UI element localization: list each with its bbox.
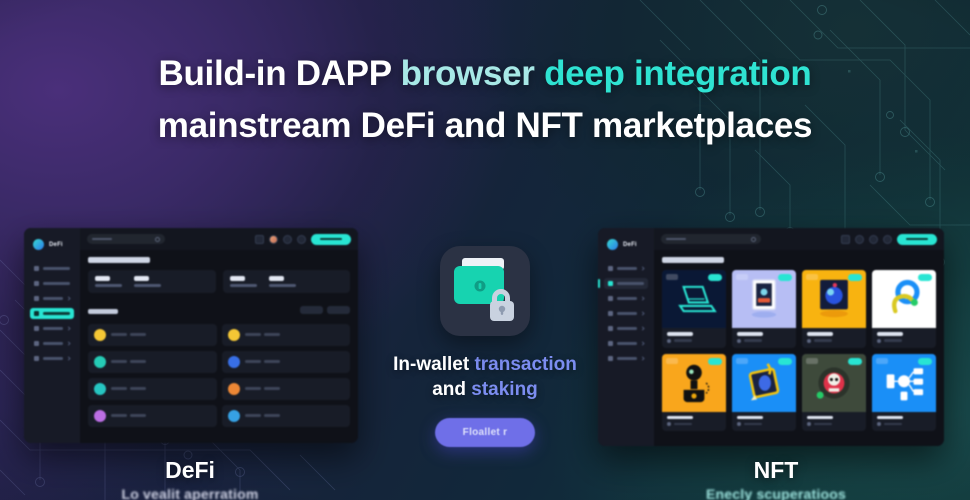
nft-card-tag — [736, 274, 748, 280]
staking-card[interactable] — [222, 351, 351, 373]
nft-search-input[interactable] — [661, 234, 761, 244]
defi-app-screenshot: DeFi — [24, 228, 358, 443]
frame-art — [732, 270, 796, 328]
nft-card-tag — [806, 274, 818, 280]
sidebar-item-settings[interactable] — [30, 353, 74, 364]
nft-sidebar: DeFi — [598, 228, 654, 446]
staking-card[interactable] — [88, 378, 217, 400]
sidebar-item-my-assets[interactable] — [30, 338, 74, 349]
nft-card-price — [877, 339, 931, 343]
stat-panel — [223, 270, 351, 293]
nft-card[interactable] — [802, 354, 866, 432]
nft-card[interactable] — [662, 270, 726, 348]
headline-seg-buildin: Build-in DAPP — [158, 54, 400, 93]
orb-art — [802, 270, 866, 328]
chevron-right-icon — [66, 356, 70, 360]
avatar[interactable] — [883, 235, 892, 244]
avatar[interactable] — [269, 235, 278, 244]
chevron-right-icon — [640, 341, 644, 345]
defi-connect-button[interactable] — [311, 234, 351, 245]
coin-icon — [94, 410, 106, 422]
nft-card[interactable] — [662, 354, 726, 432]
nft-card-name — [737, 416, 763, 420]
slide-canvas: Build-in DAPP browser deep integration m… — [0, 0, 970, 500]
nft-card-price — [737, 422, 791, 426]
sidebar-item-staking[interactable] — [30, 308, 74, 319]
wallet-icon — [34, 296, 39, 301]
caption-defi: DeFi Lo vealit aperratiom — [90, 458, 290, 500]
nft-card-grid — [662, 270, 936, 431]
defi-main-body — [80, 250, 358, 443]
chevron-right-icon — [640, 356, 644, 360]
sidebar-item-markets[interactable] — [30, 323, 74, 334]
nft-card-badge — [708, 274, 722, 281]
nft-card[interactable] — [802, 270, 866, 348]
caption-nft-title: NFT — [676, 458, 876, 482]
nft-card-name — [667, 416, 693, 420]
nft-topbar — [654, 228, 944, 250]
nft-card-name — [877, 332, 903, 336]
chart-icon — [34, 326, 39, 331]
nft-app-screenshot: DeFi — [598, 228, 944, 446]
nft-connect-button[interactable] — [897, 234, 937, 245]
defi-brand: DeFi — [30, 237, 74, 259]
coin-icon — [94, 329, 106, 341]
nft-card[interactable] — [732, 354, 796, 432]
nft-card[interactable] — [872, 270, 936, 348]
chevron-right-icon — [640, 296, 644, 300]
nft-card-price — [667, 422, 721, 426]
center-text-seg-4: staking — [471, 379, 538, 400]
center-text-seg-3: and — [432, 379, 471, 400]
nft-card-tag — [736, 358, 748, 364]
diamond-art — [732, 354, 796, 412]
chevron-right-icon — [640, 266, 644, 270]
nft-card-name — [877, 416, 903, 420]
nft-card-price — [807, 339, 861, 343]
nft-card[interactable] — [872, 354, 936, 432]
menu-icon[interactable] — [841, 235, 850, 244]
nft-main-body — [654, 250, 944, 446]
caption-nft-subtitle: Enecly scuperatioos — [676, 486, 876, 500]
staking-card[interactable] — [222, 378, 351, 400]
staking-card[interactable] — [88, 351, 217, 373]
grid-icon — [34, 266, 39, 271]
center-feature: In-wallet transaction and staking Floall… — [375, 246, 595, 447]
user-icon — [608, 296, 613, 301]
staking-card[interactable] — [222, 405, 351, 427]
sidebar-item-discovered[interactable] — [604, 308, 648, 319]
sidebar-item-overview[interactable] — [30, 263, 74, 274]
nft-card-tag — [876, 358, 888, 364]
staking-card[interactable] — [88, 405, 217, 427]
nft-card-price — [807, 422, 861, 426]
defi-search-input[interactable] — [87, 234, 165, 244]
sidebar-item-my-assets[interactable] — [604, 338, 648, 349]
nft-card-badge — [708, 358, 722, 365]
grid-icon — [608, 266, 613, 271]
sidebar-item-artists[interactable] — [604, 293, 648, 304]
center-text-seg-2: transaction — [474, 354, 576, 375]
nft-card-tag — [666, 358, 678, 364]
store-icon — [608, 281, 613, 286]
folder-icon — [34, 341, 39, 346]
nft-card-name — [807, 416, 833, 420]
defi-sidebar: DeFi — [24, 228, 80, 443]
nft-card-tag — [806, 358, 818, 364]
caption-defi-subtitle: Lo vealit aperratiom — [90, 486, 290, 500]
nft-card-price — [877, 422, 931, 426]
chevron-right-icon — [66, 296, 70, 300]
defi-page-title — [88, 257, 150, 263]
nft-card-badge — [778, 358, 792, 365]
defi-logo-icon — [33, 239, 44, 250]
coin-icon — [228, 329, 240, 341]
gear-icon[interactable] — [855, 235, 864, 244]
laptop-art — [662, 270, 726, 328]
nft-card-badge — [778, 274, 792, 281]
coin-icon — [228, 383, 240, 395]
sidebar-item-discover[interactable] — [30, 278, 74, 289]
coin-icon — [228, 410, 240, 422]
nft-card-tag — [876, 274, 888, 280]
coin-icon — [228, 356, 240, 368]
menu-icon[interactable] — [255, 235, 264, 244]
nft-card[interactable] — [732, 270, 796, 348]
headline-line-1: Build-in DAPP browser deep integration — [0, 48, 970, 100]
nft-card-name — [737, 332, 763, 336]
defi-section-header — [88, 301, 350, 319]
nft-card-badge — [918, 358, 932, 365]
defi-staking-card-grid — [88, 324, 350, 427]
ring-art — [872, 270, 936, 328]
wallet-lock-glyph — [440, 246, 530, 336]
chevron-right-icon — [66, 341, 70, 345]
nft-card-badge — [848, 274, 862, 281]
nft-card-badge — [918, 274, 932, 281]
headline-line-2: mainstream DeFi and NFT marketplaces — [0, 100, 970, 152]
defi-brand-label: DeFi — [49, 242, 63, 248]
stat-panel — [88, 270, 216, 293]
headline-seg-browser: browser — [401, 54, 544, 93]
defi-topbar — [80, 228, 358, 250]
bell-icon[interactable] — [869, 235, 878, 244]
gear-icon — [34, 356, 39, 361]
search-icon — [155, 237, 160, 242]
staking-card[interactable] — [88, 324, 217, 346]
filter-button[interactable] — [300, 306, 323, 314]
flame-icon — [608, 356, 613, 361]
sidebar-item-subscribed[interactable] — [604, 323, 648, 334]
compass-icon — [34, 281, 39, 286]
caption-nft: NFT Enecly scuperatioos — [676, 458, 876, 500]
nft-brand: DeFi — [604, 237, 648, 259]
nft-card-badge — [848, 358, 862, 365]
wallet-lock-icon — [440, 246, 530, 336]
nft-brand-label: DeFi — [623, 242, 637, 248]
compass-icon — [608, 311, 613, 316]
search-icon — [751, 237, 756, 242]
headline-seg-deep-integration: deep integration — [544, 54, 811, 93]
network-art — [872, 354, 936, 412]
nft-page-title — [662, 257, 724, 263]
caption-defi-title: DeFi — [90, 458, 290, 482]
nft-card-price — [737, 339, 791, 343]
defi-stats-row — [88, 270, 350, 293]
defi-section-title — [88, 309, 118, 314]
grid-apps-icon[interactable] — [297, 235, 306, 244]
skull-art — [802, 354, 866, 412]
center-cta-button[interactable]: Floallet r — [435, 418, 535, 447]
staking-card[interactable] — [222, 324, 351, 346]
center-cta-label: Floallet r — [463, 427, 508, 438]
sidebar-item-featured[interactable] — [604, 353, 648, 364]
star-icon — [608, 326, 613, 331]
sidebar-item-marketplace[interactable] — [604, 278, 648, 289]
folder-icon — [608, 341, 613, 346]
sort-button[interactable] — [327, 306, 350, 314]
nft-card-tag — [666, 274, 678, 280]
coins-icon — [34, 311, 39, 316]
center-text-seg-1: In-wallet — [393, 354, 474, 375]
nft-card-name — [667, 332, 693, 336]
coin-icon — [94, 383, 106, 395]
coin-icon — [94, 356, 106, 368]
nft-card-name — [807, 332, 833, 336]
sidebar-item-wallet[interactable] — [30, 293, 74, 304]
sidebar-item-overview[interactable] — [604, 263, 648, 274]
headline: Build-in DAPP browser deep integration m… — [0, 48, 970, 152]
nft-logo-icon — [607, 239, 618, 250]
chevron-right-icon — [640, 326, 644, 330]
bell-icon[interactable] — [283, 235, 292, 244]
chevron-right-icon — [640, 311, 644, 315]
nft-card-price — [667, 339, 721, 343]
chevron-right-icon — [66, 326, 70, 330]
ape-art — [662, 354, 726, 412]
center-feature-text: In-wallet transaction and staking — [375, 352, 595, 402]
